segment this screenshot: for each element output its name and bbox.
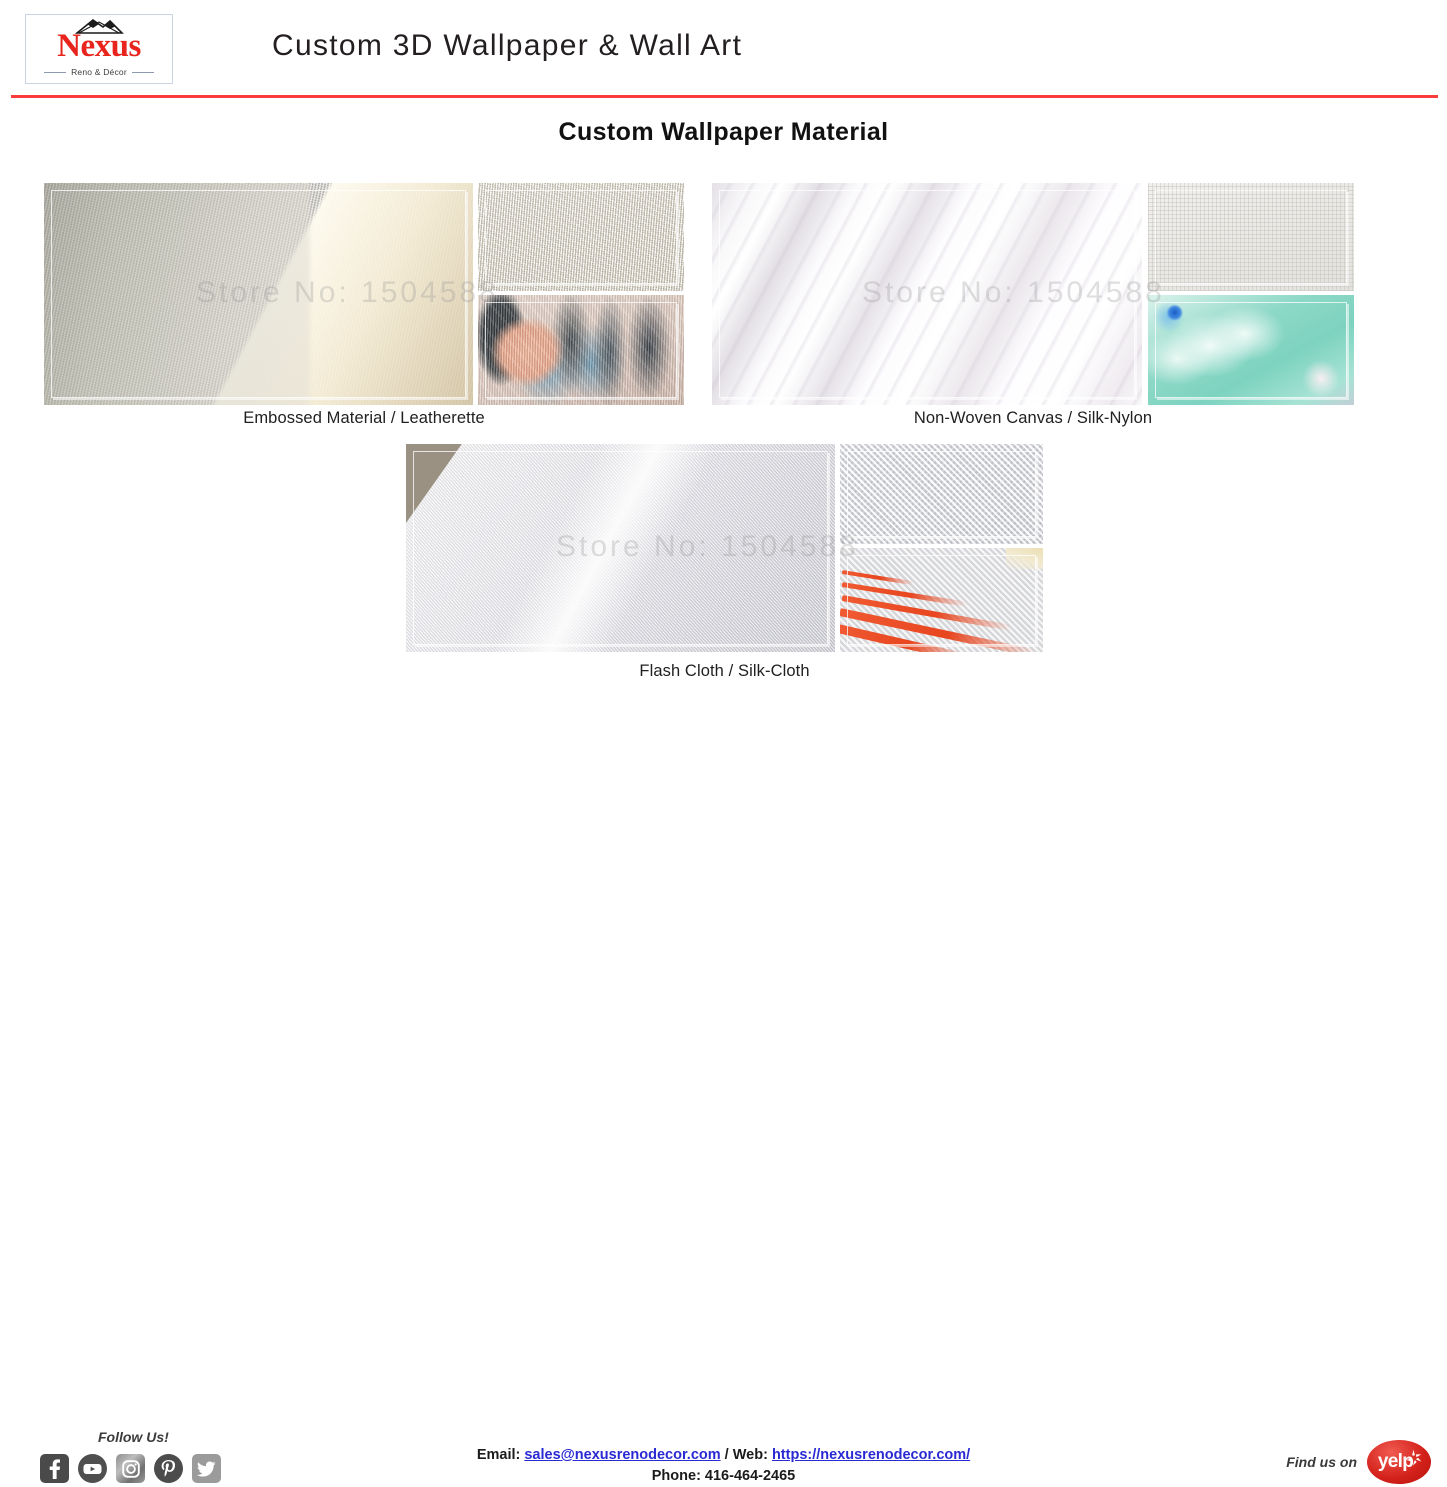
embossed-texture-thumb[interactable] — [478, 183, 684, 291]
print-corner-highlight — [1006, 548, 1043, 569]
embossed-closeup-texture — [478, 183, 684, 291]
embossed-roll-texture — [44, 183, 473, 405]
header-divider — [11, 95, 1438, 98]
brand-logo[interactable]: Nexus Reno & Décor — [25, 14, 173, 84]
canvas-weave-texture — [1148, 183, 1354, 291]
material-card-non-woven[interactable]: Store No: 1504588 — [712, 183, 1354, 405]
tagline-rule-left — [44, 72, 66, 73]
silk-nylon-texture — [712, 183, 1142, 405]
yelp-badge[interactable]: yelp — [1367, 1440, 1431, 1484]
flash-cloth-texture — [406, 444, 835, 652]
material-card-embossed[interactable]: Store No: 1504588 — [44, 183, 684, 405]
email-label: Email: — [477, 1447, 521, 1463]
phone-line: Phone: 416-464-2465 — [0, 1466, 1447, 1487]
brand-name: Nexus — [26, 27, 172, 65]
tagline-rule-right — [132, 72, 154, 73]
red-stripe-print-texture — [840, 548, 1043, 652]
floral-print-texture — [1148, 295, 1354, 405]
follow-us-label: Follow Us! — [98, 1429, 169, 1445]
caption-embossed: Embossed Material / Leatherette — [44, 409, 684, 428]
material-card-flash-cloth[interactable]: Store No: 1504588 — [406, 444, 1043, 652]
page-footer: Follow Us! Email: sales@nexusrenodecor.c… — [0, 710, 1447, 800]
flash-cloth-main-photo[interactable] — [406, 444, 835, 652]
web-label: Web: — [733, 1447, 768, 1463]
email-link[interactable]: sales@nexusrenodecor.com — [524, 1447, 720, 1463]
flash-cloth-weave-thumb[interactable] — [840, 444, 1043, 544]
page-title: Custom 3D Wallpaper & Wall Art — [272, 29, 742, 63]
section-title: Custom Wallpaper Material — [0, 118, 1447, 147]
embossed-main-photo[interactable] — [44, 183, 473, 405]
yelp-burst-icon — [1405, 1449, 1422, 1466]
non-woven-main-photo[interactable] — [712, 183, 1142, 405]
yelp-block[interactable]: Find us on yelp — [1286, 1440, 1431, 1484]
non-woven-weave-thumb[interactable] — [1148, 183, 1354, 291]
flash-cloth-print-thumb[interactable] — [840, 548, 1043, 652]
email-web-line: Email: sales@nexusrenodecor.com / Web: h… — [0, 1445, 1447, 1466]
contact-info: Email: sales@nexusrenodecor.com / Web: h… — [0, 1445, 1447, 1487]
embossed-mural-thumb[interactable] — [478, 295, 684, 405]
caption-flash-cloth: Flash Cloth / Silk-Cloth — [406, 662, 1043, 681]
printed-mural-texture — [478, 295, 684, 405]
yelp-label: Find us on — [1286, 1454, 1357, 1470]
website-link[interactable]: https://nexusrenodecor.com/ — [772, 1447, 970, 1463]
caption-non-woven: Non-Woven Canvas / Silk-Nylon — [712, 409, 1354, 428]
non-woven-floral-thumb[interactable] — [1148, 295, 1354, 405]
brand-tagline-row: Reno & Décor — [26, 67, 172, 77]
brand-tagline: Reno & Décor — [71, 67, 127, 77]
contact-separator: / — [725, 1447, 729, 1463]
flash-cloth-weave-texture — [840, 444, 1043, 544]
page-header: Nexus Reno & Décor Custom 3D Wallpaper &… — [0, 0, 1447, 97]
